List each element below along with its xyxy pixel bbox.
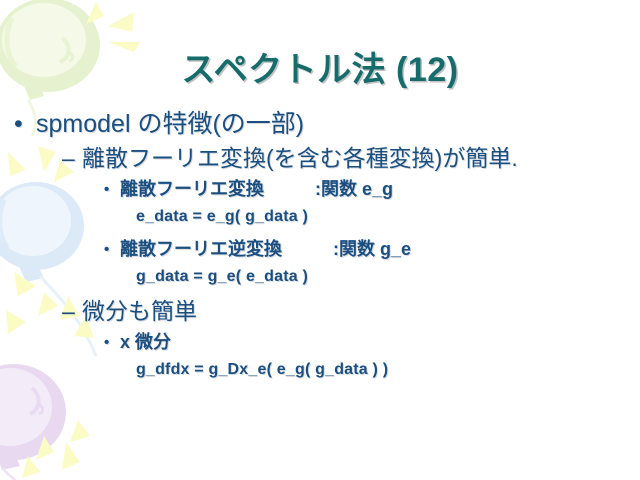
code-e-data: e_data = e_g( g_data ) (0, 204, 640, 232)
bullet-dft: • 離散フーリエ変換 :関数 e_g (0, 176, 640, 204)
slide-canvas: スペクトル法 (12) • spmodel の特徴(の一部) – 離散フーリエ変… (0, 0, 640, 480)
bullet-text: x 微分 (120, 332, 171, 352)
bullet-marker-level3: • (104, 176, 109, 203)
bullet-marker-level2: – (62, 296, 75, 327)
bullet-text: 微分も簡単 (82, 298, 197, 324)
bullet-text: 離散フーリエ変換 (120, 179, 264, 199)
bullet-text: spmodel の特徴(の一部) (36, 110, 304, 138)
ray-cluster-bottom-icon (22, 420, 90, 478)
bullet-inverse-dft: • 離散フーリエ逆変換 :関数 g_e (0, 236, 640, 264)
bullet-text: 離散フーリエ変換(を含む各種変換)が簡単. (82, 145, 518, 171)
slide-body: • spmodel の特徴(の一部) – 離散フーリエ変換(を含む各種変換)が簡… (0, 108, 640, 385)
bullet-spmodel-features: • spmodel の特徴(の一部) (0, 108, 640, 143)
slide-title: スペクトル法 (12) (0, 42, 640, 91)
bullet-text: 離散フーリエ逆変換 (120, 239, 282, 259)
code-g-data: g_data = g_e( e_data ) (0, 264, 640, 292)
bullet-marker-level1: • (14, 108, 23, 141)
bullet-marker-level2: – (62, 143, 75, 174)
bullet-function-label: :関数 e_g (315, 176, 393, 203)
code-g-dfdx: g_dfdx = g_Dx_e( e_g( g_data ) ) (0, 357, 640, 385)
bullet-discrete-fourier-transform-easy: – 離散フーリエ変換(を含む各種変換)が簡単. (0, 143, 640, 176)
bullet-x-derivative: • x 微分 (0, 329, 640, 357)
bullet-function-label: :関数 g_e (333, 236, 411, 263)
bullet-differentiation-easy: – 微分も簡単 (0, 296, 640, 329)
bullet-marker-level3: • (104, 236, 109, 263)
bullet-marker-level3: • (104, 329, 109, 356)
